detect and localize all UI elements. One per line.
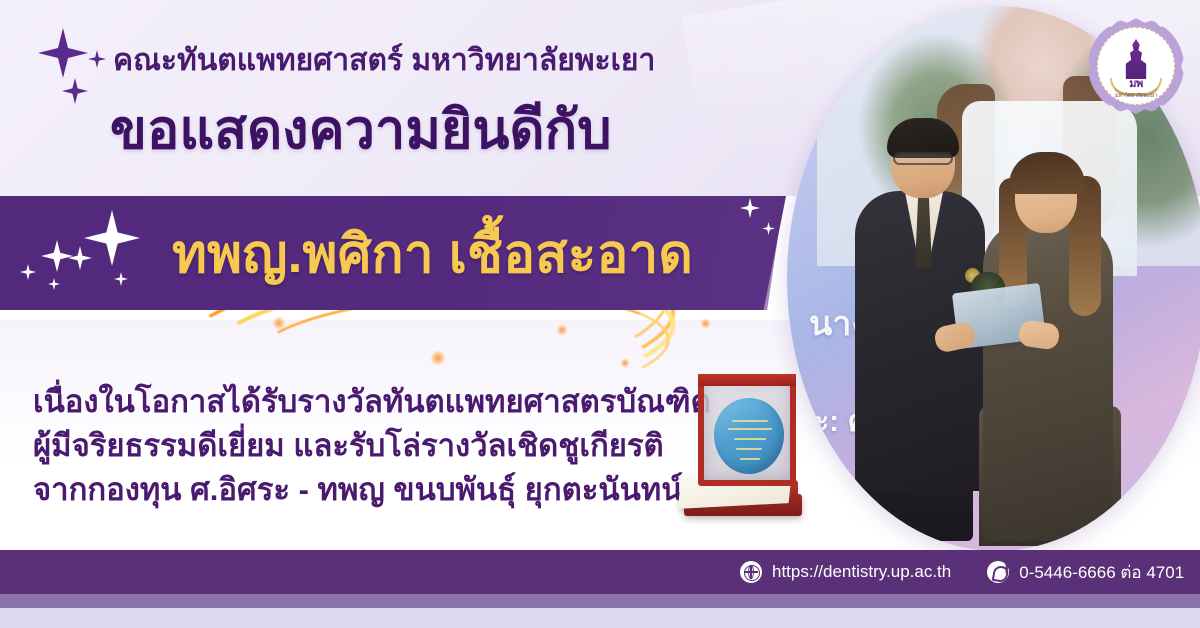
- phone-icon: [987, 561, 1009, 583]
- award-glass-disc: [714, 398, 784, 474]
- presenter-glasses: [893, 152, 953, 165]
- page-title: ขอแสดงความยินดีกับ: [110, 96, 770, 164]
- congratulations-banner: คณะทันตแพทยศาสตร์ มหาวิทยาลัยพะเยา ขอแสด…: [0, 0, 1200, 628]
- footer-contacts: https://dentistry.up.ac.th 0-5446-6666 ต…: [740, 550, 1190, 594]
- footer-bar-mid: [0, 594, 1200, 608]
- seal-caption: มหาวิทยาลัยพะเยา: [1102, 92, 1170, 100]
- honoree-name: ทพญ.พศิกา เชื้อสะอาด: [172, 221, 752, 291]
- globe-icon: [740, 561, 762, 583]
- faculty-name: คณะทันตแพทยศาสตร์ มหาวิทยาลัยพะเยา: [113, 42, 753, 80]
- award-description-line: จากกองทุน ศ.อิศระ - ทพญ ขนบพันธุ์ ยุกตะน…: [33, 468, 713, 512]
- seal-monogram: มพ: [1118, 74, 1154, 92]
- university-seal: มพ มหาวิทยาลัยพะเยา: [1088, 18, 1184, 114]
- award-description-line: ผู้มีจริยธรรมดีเยี่ยม และรับโล่รางวัลเชิ…: [33, 424, 713, 468]
- website-url[interactable]: https://dentistry.up.ac.th: [772, 562, 951, 582]
- award-description-line: เนื่องในโอกาสได้รับรางวัลทันตแพทยศาสตรบั…: [33, 380, 713, 424]
- award-box-lid-top: [698, 374, 796, 386]
- footer-bar-light: [0, 608, 1200, 628]
- phone-number[interactable]: 0-5446-6666 ต่อ 4701: [1019, 559, 1184, 586]
- award-description: เนื่องในโอกาสได้รับรางวัลทันตแพทยศาสตรบั…: [33, 380, 713, 512]
